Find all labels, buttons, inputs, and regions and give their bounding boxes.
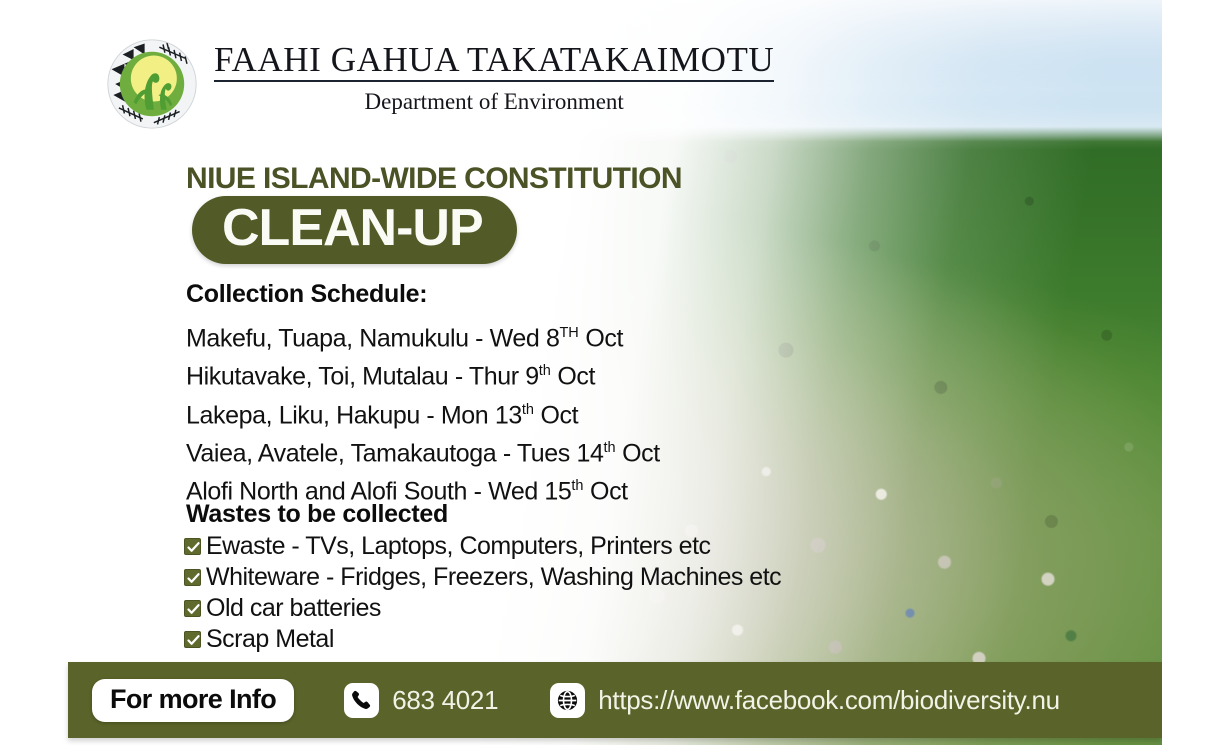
poster: FAAHI GAHUA TAKATAKAIMOTU Department of … [56,0,1162,745]
more-info-label: For more Info [110,684,276,714]
schedule-row: Lakepa, Liku, Hakupu - Mon 13th Oct [186,394,660,432]
schedule-month: Oct [534,401,578,429]
phone-number: 683 4021 [392,685,498,716]
schedule-month: Oct [551,363,595,391]
schedule-villages: Makefu, Tuapa, Namukulu - [186,324,490,352]
list-item: Old car batteries [184,593,781,624]
schedule-day: Tues 14 [517,439,604,467]
waste-item-label: Old car batteries [206,593,381,624]
phone-icon [344,683,379,718]
schedule-ordinal-suffix: th [603,440,615,456]
waste-item-label: Ewaste - TVs, Laptops, Computers, Printe… [206,531,711,562]
schedule-ordinal-suffix: th [522,402,534,418]
schedule-row: Makefu, Tuapa, Namukulu - Wed 8TH Oct [186,317,660,355]
poster-header: FAAHI GAHUA TAKATAKAIMOTU Department of … [106,38,774,130]
schedule-month: Oct [616,439,660,467]
schedule-ordinal-suffix: TH [559,325,578,341]
schedule-day: Wed 8 [490,324,560,352]
niue-environment-emblem-icon [106,38,198,130]
schedule-day: Thur 9 [469,363,539,391]
phone-contact[interactable]: 683 4021 [344,683,498,718]
schedule-day: Wed 15 [488,478,571,506]
schedule-day: Mon 13 [441,401,522,429]
schedule-ordinal-suffix: th [571,478,583,494]
list-item: Scrap Metal [184,624,781,655]
wastes-list: Ewaste - TVs, Laptops, Computers, Printe… [184,531,781,655]
schedule-villages: Vaiea, Avatele, Tamakautoga - [186,439,517,467]
schedule-heading: Collection Schedule: [186,280,427,309]
checkbox-checked-icon [184,631,201,648]
list-item: Ewaste - TVs, Laptops, Computers, Printe… [184,531,781,562]
organisation-title: FAAHI GAHUA TAKATAKAIMOTU [214,42,774,78]
schedule-villages: Hikutavake, Toi, Mutalau - [186,363,469,391]
wastes-heading: Wastes to be collected [186,500,448,529]
website-contact[interactable]: https://www.facebook.com/biodiversity.nu [550,683,1060,718]
contact-footer-bar: For more Info 683 4021 ht [68,662,1162,738]
waste-item-label: Scrap Metal [206,624,334,655]
waste-item-label: Whiteware - Fridges, Freezers, Washing M… [206,562,781,593]
clean-up-badge-label: CLEAN-UP [222,201,483,255]
checkbox-checked-icon [184,569,201,586]
checkbox-checked-icon [184,600,201,617]
organisation-block: FAAHI GAHUA TAKATAKAIMOTU Department of … [214,38,774,115]
schedule-row: Vaiea, Avatele, Tamakautoga - Tues 14th … [186,432,660,470]
schedule-ordinal-suffix: th [539,363,551,379]
checkbox-checked-icon [184,538,201,555]
clean-up-badge: CLEAN-UP [192,196,517,264]
schedule-month: Oct [583,478,627,506]
schedule-list: Makefu, Tuapa, Namukulu - Wed 8TH Oct Hi… [186,317,660,509]
schedule-villages: Lakepa, Liku, Hakupu - [186,401,441,429]
campaign-kicker: NIUE ISLAND-WIDE CONSTITUTION [186,162,682,196]
globe-icon [550,683,585,718]
website-url: https://www.facebook.com/biodiversity.nu [598,685,1060,716]
more-info-button[interactable]: For more Info [92,679,294,722]
schedule-month: Oct [579,324,623,352]
organisation-subtitle: Department of Environment [214,89,774,114]
title-underline [214,80,774,82]
list-item: Whiteware - Fridges, Freezers, Washing M… [184,562,781,593]
schedule-row: Hikutavake, Toi, Mutalau - Thur 9th Oct [186,355,660,393]
